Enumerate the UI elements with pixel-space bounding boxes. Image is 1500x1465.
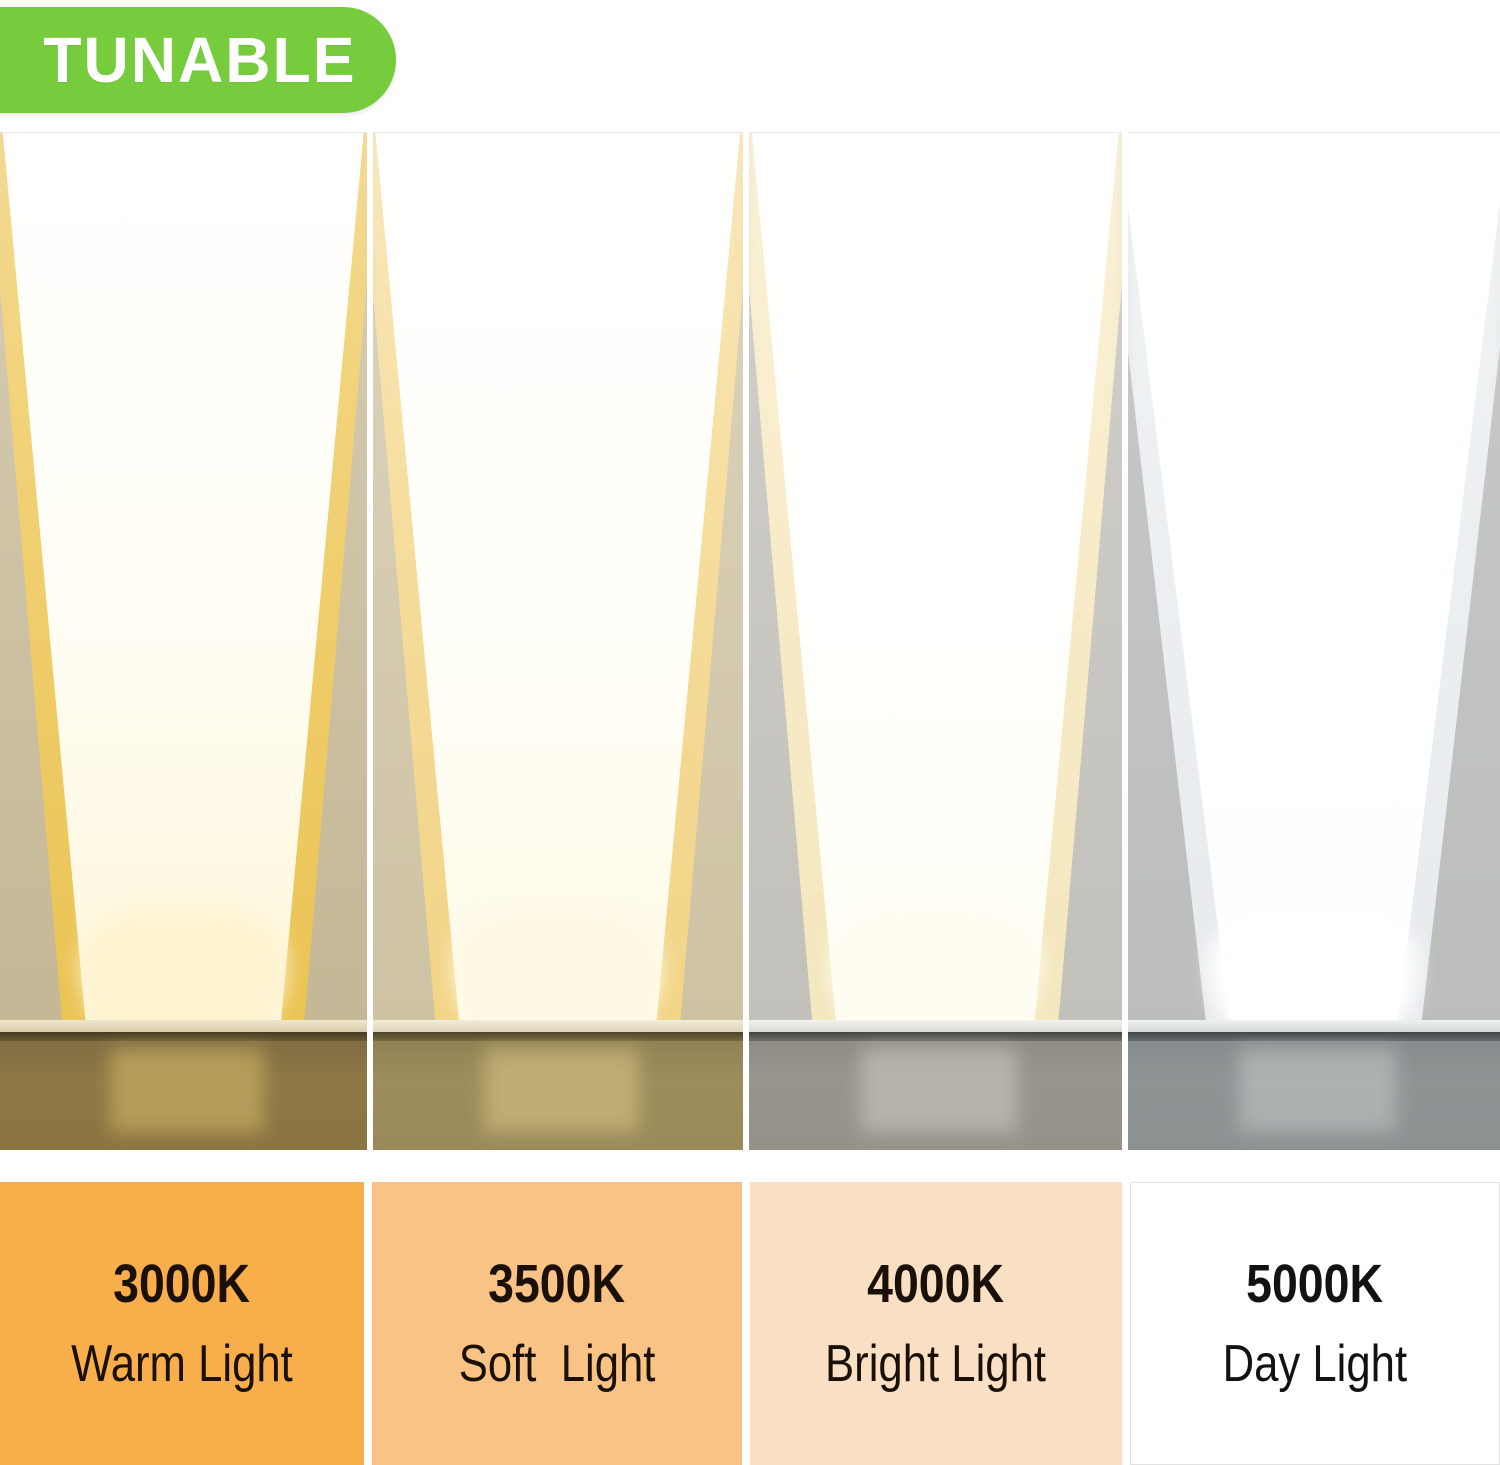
baseboard [0, 1020, 367, 1032]
swatch-temperature-label: 5000K [1247, 1256, 1384, 1313]
wall-surface [749, 133, 1121, 1032]
light-photo-5000k [1128, 132, 1500, 1150]
swatch-description-label: Warm Light [71, 1337, 293, 1392]
color-temperature-swatch-row: 3000K Warm Light 3500K Soft Light 4000K … [0, 1182, 1500, 1465]
swatch-description-label: Soft Light [459, 1337, 656, 1392]
swatch-5000k: 5000K Day Light [1130, 1182, 1500, 1465]
light-photo-3000k [0, 132, 367, 1150]
floor-reflection [1239, 1048, 1395, 1132]
baseboard [1128, 1020, 1500, 1032]
floor-reflection [861, 1048, 1017, 1132]
wall-surface [0, 133, 367, 1032]
swatch-temperature-label: 3500K [489, 1256, 626, 1313]
floor-surface [373, 1032, 744, 1150]
swatch-description-label: Day Light [1223, 1337, 1408, 1392]
swatch-3000k: 3000K Warm Light [0, 1182, 364, 1465]
floor-edge-line [373, 1032, 744, 1041]
baseboard [749, 1020, 1121, 1032]
floor-edge-line [0, 1032, 367, 1041]
floor-surface [749, 1032, 1121, 1150]
floor-edge-line [749, 1032, 1121, 1041]
wall-surface [1128, 133, 1500, 1032]
tunable-badge-label: TUNABLE [43, 23, 356, 97]
swatch-3500k: 3500K Soft Light [372, 1182, 742, 1465]
floor-reflection [484, 1048, 640, 1132]
swatch-temperature-label: 4000K [868, 1256, 1005, 1313]
light-beam [1128, 133, 1500, 1032]
color-temperature-comparison-graphic: TUNABLE [0, 0, 1500, 1465]
light-beam [749, 133, 1121, 1032]
swatch-description-label: Bright Light [826, 1337, 1047, 1392]
light-beam [373, 133, 744, 1032]
swatch-temperature-label: 3000K [114, 1256, 251, 1313]
light-photo-4000k [749, 132, 1121, 1150]
floor-surface [0, 1032, 367, 1150]
baseboard [373, 1020, 744, 1032]
light-beam [0, 133, 367, 1032]
tunable-badge: TUNABLE [0, 7, 396, 113]
wall-surface [373, 133, 744, 1032]
light-photo-3500k [373, 132, 744, 1150]
swatch-4000k: 4000K Bright Light [750, 1182, 1122, 1465]
floor-edge-line [1128, 1032, 1500, 1041]
floor-reflection [110, 1048, 264, 1132]
light-photo-strip [0, 132, 1500, 1150]
floor-surface [1128, 1032, 1500, 1150]
